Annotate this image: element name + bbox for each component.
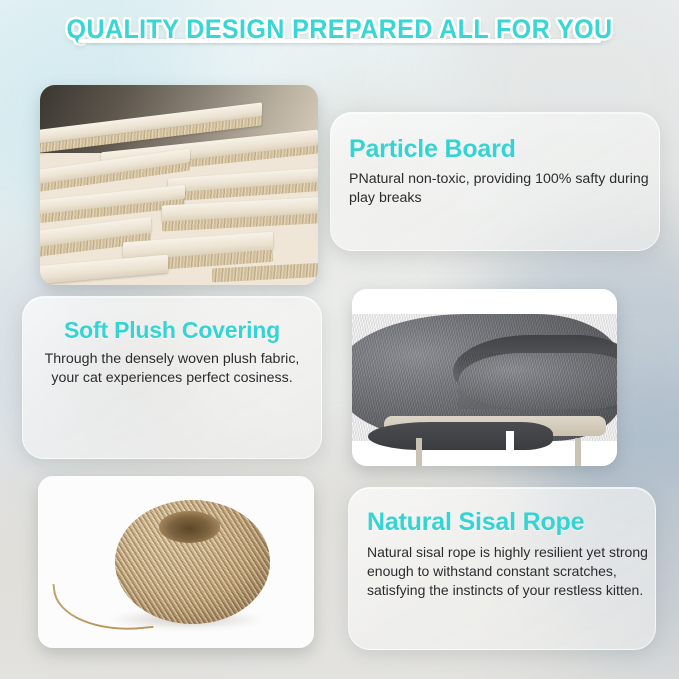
sisal-rope-body: Natural sisal rope is highly resilient y… <box>367 543 655 599</box>
particle-board-artwork <box>40 85 318 285</box>
plush-dark-underside <box>368 422 554 450</box>
plush-gap-highlight <box>506 431 514 466</box>
sisal-rope-card: Natural Sisal Rope Natural sisal rope is… <box>348 487 656 650</box>
sisal-rope-heading: Natural Sisal Rope <box>367 508 655 537</box>
sisal-rope-artwork <box>38 476 314 648</box>
plush-fabric-artwork <box>352 289 617 466</box>
plush-fabric-image <box>352 289 617 466</box>
title-underline-rule <box>78 39 601 43</box>
plush-support-leg <box>416 438 422 466</box>
soft-plush-body: Through the densely woven plush fabric, … <box>39 350 305 389</box>
particle-board-card: Particle Board PNatural non-toxic, provi… <box>330 112 660 251</box>
soft-plush-heading: Soft Plush Covering <box>39 317 305 344</box>
soft-plush-card: Soft Plush Covering Through the densely … <box>22 296 322 459</box>
particle-board-body: PNatural non-toxic, providing 100% safty… <box>349 170 659 208</box>
particle-board-image <box>40 85 318 285</box>
plush-fur-texture <box>458 353 617 410</box>
board-plank <box>40 255 168 285</box>
sisal-rope-image <box>38 476 314 648</box>
plush-support-leg <box>575 438 581 466</box>
particle-board-heading: Particle Board <box>349 135 659 164</box>
infographic-stage: QUALITY DESIGN PREPARED ALL FOR YOU <box>0 0 679 679</box>
rope-loose-end <box>52 574 153 637</box>
plush-rim-front <box>458 353 617 410</box>
